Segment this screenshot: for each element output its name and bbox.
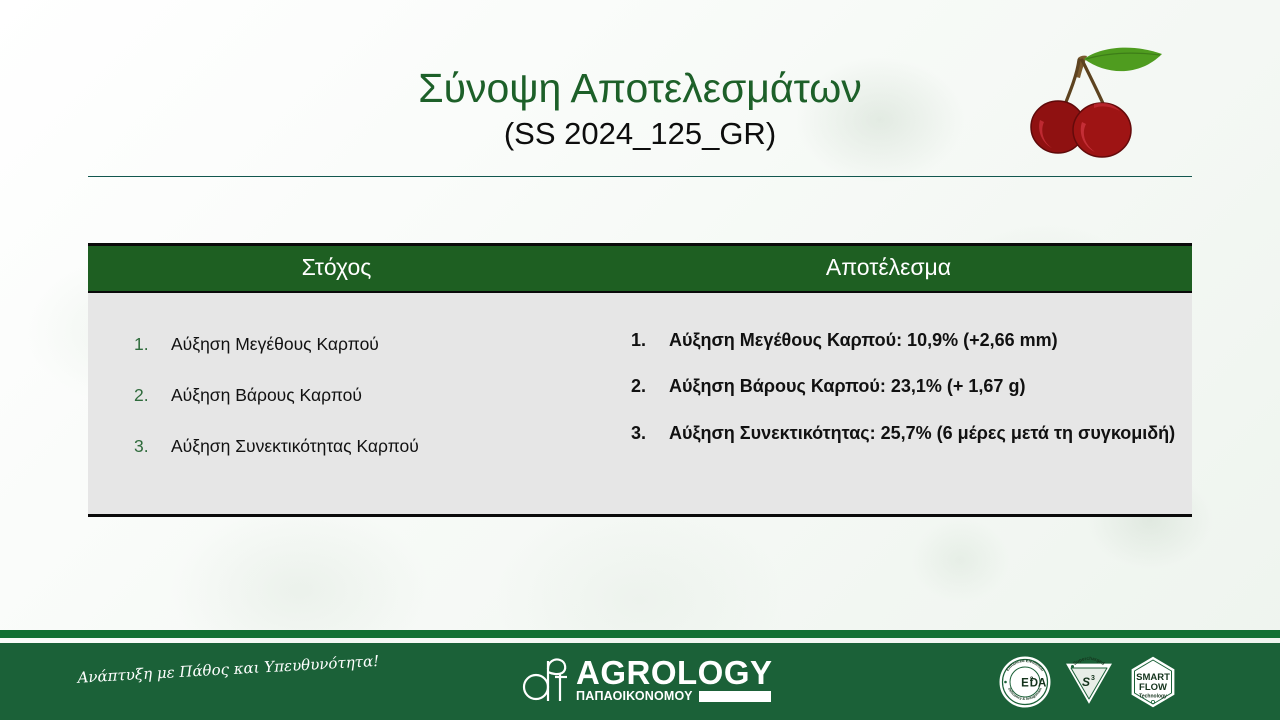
agrology-monogram-icon [522,655,574,705]
certification-badges: Enhanced Elemental Deficiency & Antagoni… [996,653,1182,711]
list-item: Αύξηση Μεγέθους Καρπού [134,333,585,356]
list-item: Αύξηση Μεγέθους Καρπού: 10,9% (+2,66 mm) [631,327,1192,354]
svg-text:DA: DA [1030,678,1047,690]
table-header-row: Στόχος Αποτέλεσμα [88,246,1192,293]
list-item: Αύξηση Βάρους Καρπού: 23,1% (+ 1,67 g) [631,373,1192,400]
smart-flow-badge-icon: SMART FLOW Technology [1124,653,1182,711]
slide-title-block: Σύνοψη Αποτελεσμάτων (SS 2024_125_GR) [88,66,1192,152]
result-list: Αύξηση Μεγέθους Καρπού: 10,9% (+2,66 mm)… [585,327,1192,447]
svg-text:S: S [1082,675,1090,689]
title-divider [88,176,1192,177]
supercharged-badge-icon: Supercharged S 3 [1060,653,1118,711]
page-subtitle: (SS 2024_125_GR) [88,115,1192,152]
goal-cell: Αύξηση Μεγέθους Καρπού Αύξηση Βάρους Καρ… [88,293,585,514]
e2da-badge-icon: Enhanced Elemental Deficiency & Antagoni… [996,653,1054,711]
agrology-logo: AGROLOGY ΠΑΠΑΟΙΚΟΝΟΜΟΥ [522,654,773,706]
slide-root: Σύνοψη Αποτελεσμάτων (SS 2024_125_GR) Στ… [0,0,1280,720]
table-body-row: Αύξηση Μεγέθους Καρπού Αύξηση Βάρους Καρ… [88,293,1192,514]
goal-list: Αύξηση Μεγέθους Καρπού Αύξηση Βάρους Καρ… [88,333,585,457]
logo-subtitle: ΠΑΠΑΟΙΚΟΝΟΜΟΥ [576,690,693,703]
agrology-wordmark: AGROLOGY ΠΑΠΑΟΙΚΟΝΟΜΟΥ [576,657,773,703]
results-table: Στόχος Αποτέλεσμα Αύξηση Μεγέθους Καρπού… [88,243,1192,517]
column-header-result: Αποτέλεσμα [585,246,1192,291]
svg-text:Technology: Technology [1139,694,1167,700]
result-cell: Αύξηση Μεγέθους Καρπού: 10,9% (+2,66 mm)… [585,293,1192,514]
logo-bar [699,691,771,702]
column-header-goal: Στόχος [88,246,585,291]
list-item: Αύξηση Συνεκτικότητας Καρπού [134,435,585,458]
svg-text:3: 3 [1091,675,1095,682]
footer-accent-bar [0,630,1280,638]
list-item: Αύξηση Βάρους Καρπού [134,384,585,407]
logo-word: AGROLOGY [576,657,773,688]
logo-sub-row: ΠΑΠΑΟΙΚΟΝΟΜΟΥ [576,690,773,703]
list-item: Αύξηση Συνεκτικότητας: 25,7% (6 μέρες με… [631,420,1192,447]
svg-text:E: E [1021,678,1029,690]
svg-text:FLOW: FLOW [1139,682,1167,693]
page-title: Σύνοψη Αποτελεσμάτων [88,66,1192,112]
